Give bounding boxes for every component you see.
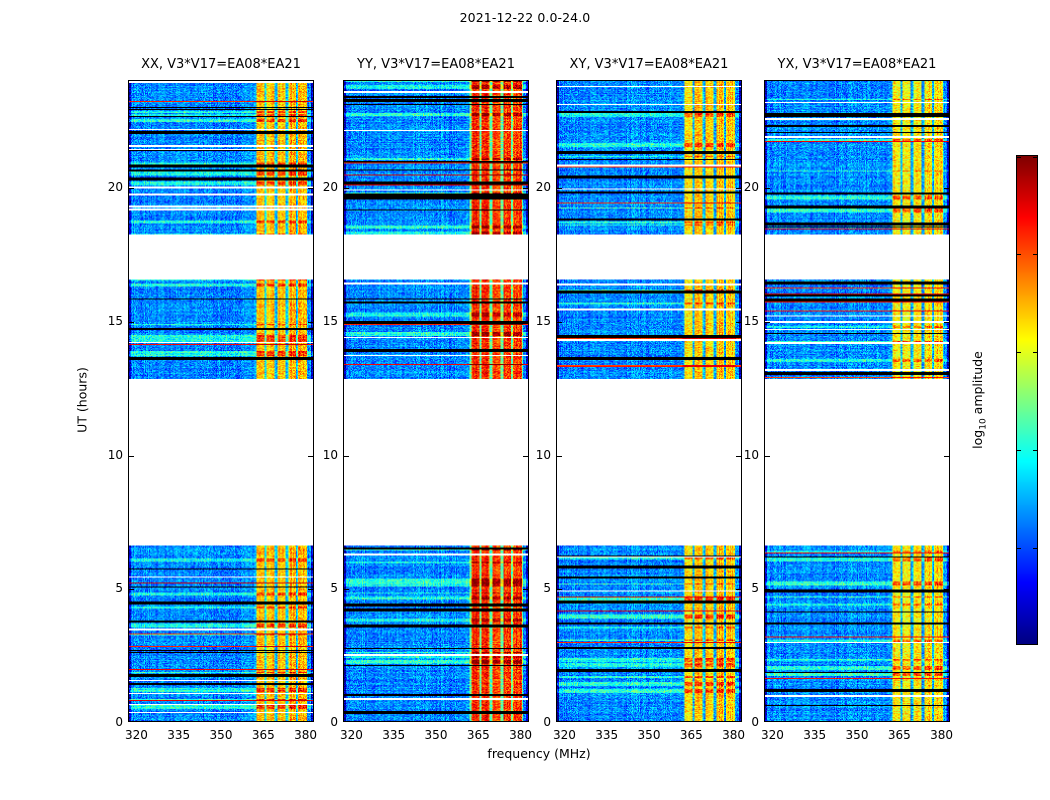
y-tick-label: 5 [543,581,551,595]
colorbar-tick-mark [1033,548,1037,549]
x-tick-label: 335 [595,728,618,742]
y-tick-mark [129,456,134,457]
figure-canvas: 2021-12-22 0.0-24.0 XX, V3*V17=EA08*EA21… [0,0,1050,800]
x-tick-label: 335 [167,728,190,742]
y-tick-label: 10 [108,448,123,462]
y-tick-mark [557,188,562,189]
y-tick-mark [344,589,349,590]
x-tick-mark [773,721,774,722]
x-tick-label: 380 [722,728,745,742]
plot-area-xx[interactable] [128,80,314,722]
x-tick-mark [180,80,181,81]
x-tick-mark [692,721,693,722]
x-tick-label: 350 [638,728,661,742]
x-tick-label: 380 [294,728,317,742]
panel-title-yy: YY, V3*V17=EA08*EA21 [357,57,515,72]
colorbar-tick-mark [1033,157,1037,158]
x-tick-mark [180,721,181,722]
y-tick-mark [736,456,741,457]
figure-suptitle: 2021-12-22 0.0-24.0 [0,10,1050,25]
panel-xy[interactable]: XY, V3*V17=EA08*EA21 0510152032033535036… [556,80,742,722]
x-tick-label: 335 [803,728,826,742]
y-tick-mark [344,456,349,457]
panel-xx[interactable]: XX, V3*V17=EA08*EA21 0510152032033535036… [128,80,314,722]
panel-title-yx: YX, V3*V17=EA08*EA21 [778,57,937,72]
x-tick-label: 320 [125,728,148,742]
colorbar-tick-mark [1017,157,1021,158]
x-tick-mark [522,80,523,81]
y-tick-mark [523,456,528,457]
x-tick-label: 320 [340,728,363,742]
colorbar-label: log10 amplitude [970,351,989,449]
plot-area-yx[interactable] [764,80,950,722]
x-tick-label: 365 [888,728,911,742]
heatmap-image-yx [765,81,949,721]
x-tick-mark [816,80,817,81]
x-tick-mark [264,80,265,81]
y-tick-mark [557,589,562,590]
y-tick-label: 15 [323,314,338,328]
x-tick-mark [858,721,859,722]
y-tick-label: 20 [536,180,551,194]
y-tick-label: 5 [330,581,338,595]
x-tick-mark [773,80,774,81]
y-tick-mark [944,322,949,323]
y-tick-mark [736,322,741,323]
y-tick-mark [944,188,949,189]
x-tick-label: 350 [846,728,869,742]
y-tick-mark [557,322,562,323]
y-tick-label: 0 [543,715,551,729]
y-tick-mark [523,589,528,590]
y-tick-label: 0 [115,715,123,729]
panel-title-xy: XY, V3*V17=EA08*EA21 [570,57,729,72]
x-tick-mark [522,721,523,722]
x-tick-label: 350 [425,728,448,742]
colorbar-tick-mark [1017,450,1021,451]
x-tick-mark [307,80,308,81]
y-tick-label: 10 [323,448,338,462]
x-tick-label: 380 [509,728,532,742]
y-tick-label: 10 [744,448,759,462]
y-tick-mark [308,188,313,189]
colorbar-tick-mark [1033,352,1037,353]
x-tick-mark [222,80,223,81]
x-tick-mark [943,721,944,722]
y-tick-label: 15 [108,314,123,328]
y-tick-mark [557,456,562,457]
y-tick-label: 20 [108,180,123,194]
x-tick-mark [264,721,265,722]
x-tick-mark [650,80,651,81]
x-tick-mark [565,80,566,81]
y-tick-mark [736,188,741,189]
y-tick-label: 0 [751,715,759,729]
x-tick-mark [479,721,480,722]
y-axis-label: UT (hours) [75,367,90,433]
panel-title-xx: XX, V3*V17=EA08*EA21 [141,57,301,72]
y-tick-mark [944,456,949,457]
x-tick-mark [395,80,396,81]
heatmap-image-xy [557,81,741,721]
x-tick-mark [735,80,736,81]
y-tick-mark [736,589,741,590]
colorbar-tick-mark [1033,254,1037,255]
y-tick-label: 15 [744,314,759,328]
y-tick-mark [523,188,528,189]
y-tick-label: 10 [536,448,551,462]
x-tick-mark [608,721,609,722]
x-tick-label: 350 [210,728,233,742]
x-tick-mark [735,721,736,722]
y-tick-mark [344,188,349,189]
y-tick-label: 5 [115,581,123,595]
x-tick-mark [222,721,223,722]
x-tick-label: 380 [930,728,953,742]
colorbar-tick-mark [1017,548,1021,549]
colorbar-tick-mark [1033,450,1037,451]
x-tick-mark [565,721,566,722]
x-tick-mark [692,80,693,81]
x-tick-mark [479,80,480,81]
x-tick-mark [307,721,308,722]
x-tick-mark [352,80,353,81]
x-tick-mark [943,80,944,81]
plot-area-xy[interactable] [556,80,742,722]
x-tick-mark [137,80,138,81]
y-tick-mark [765,188,770,189]
y-tick-mark [765,589,770,590]
x-tick-mark [352,721,353,722]
x-tick-label: 365 [467,728,490,742]
y-tick-mark [344,322,349,323]
y-tick-mark [308,589,313,590]
y-tick-mark [129,322,134,323]
x-tick-label: 365 [680,728,703,742]
x-tick-mark [650,721,651,722]
x-tick-mark [858,80,859,81]
colorbar-tick-mark [1017,352,1021,353]
y-tick-mark [308,322,313,323]
y-tick-label: 5 [751,581,759,595]
x-tick-mark [395,721,396,722]
x-tick-label: 335 [382,728,405,742]
y-tick-mark [765,456,770,457]
panel-yx[interactable]: YX, V3*V17=EA08*EA21 0510152032033535036… [764,80,950,722]
y-tick-mark [944,589,949,590]
heatmap-image-xx [129,81,313,721]
x-tick-mark [437,721,438,722]
x-axis-label: frequency (MHz) [487,746,590,761]
colorbar[interactable]: 10-1-2-3-4 [1016,155,1038,645]
y-tick-mark [129,188,134,189]
y-tick-mark [765,322,770,323]
y-tick-label: 20 [744,180,759,194]
heatmap-image-yy [344,81,528,721]
y-tick-mark [523,322,528,323]
y-tick-label: 20 [323,180,338,194]
y-tick-label: 15 [536,314,551,328]
x-tick-label: 320 [553,728,576,742]
x-tick-label: 320 [761,728,784,742]
y-tick-mark [129,589,134,590]
x-tick-mark [608,80,609,81]
y-tick-label: 0 [330,715,338,729]
x-tick-mark [137,721,138,722]
x-tick-mark [900,721,901,722]
x-tick-mark [816,721,817,722]
x-tick-mark [900,80,901,81]
y-tick-mark [308,456,313,457]
x-tick-label: 365 [252,728,275,742]
panel-yy[interactable]: YY, V3*V17=EA08*EA21 0510152032033535036… [343,80,529,722]
plot-area-yy[interactable] [343,80,529,722]
x-tick-mark [437,80,438,81]
colorbar-tick-mark [1017,254,1021,255]
